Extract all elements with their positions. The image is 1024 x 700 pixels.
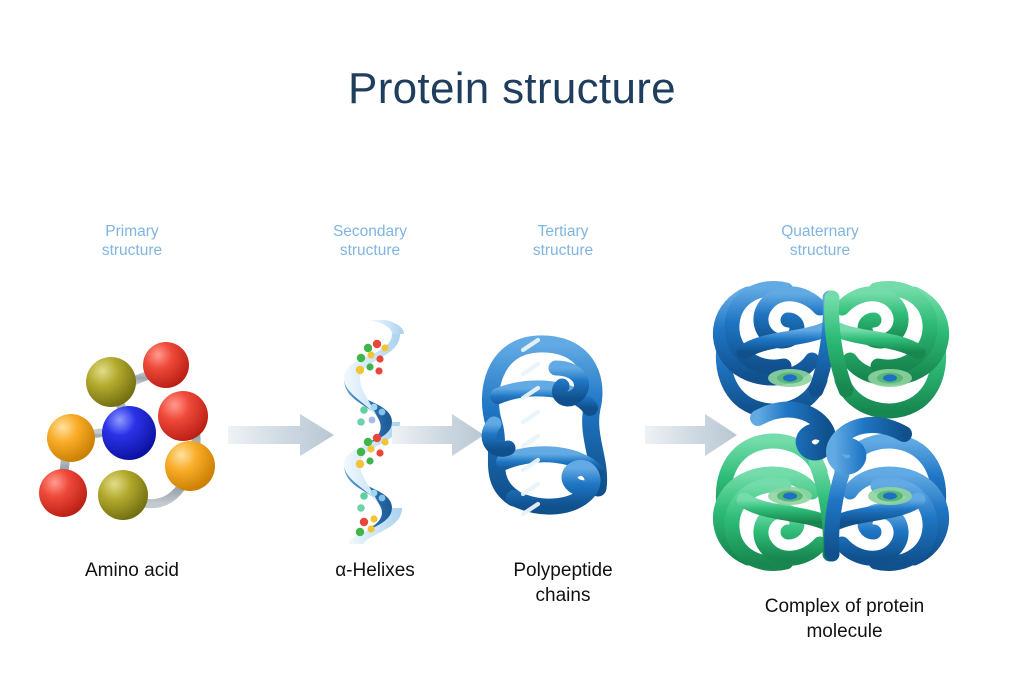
stage-header-tertiary-line1: Tertiary bbox=[468, 222, 658, 241]
amino-acid-atoms bbox=[39, 342, 215, 520]
atom-carbon-olive-bottom bbox=[98, 470, 148, 520]
stage-header-quaternary-line2: structure bbox=[725, 241, 915, 260]
stage-header-tertiary-line2: structure bbox=[468, 241, 658, 260]
figure-polypeptide-chain bbox=[468, 312, 658, 544]
caption-amino-acid: Amino acid bbox=[17, 558, 247, 583]
caption-amino-acid-line1: Amino acid bbox=[17, 558, 247, 583]
atom-nitrogen-blue bbox=[102, 406, 156, 460]
stage-header-secondary-line1: Secondary bbox=[275, 222, 465, 241]
caption-polypeptide-chains: Polypeptide chains bbox=[448, 558, 678, 608]
atom-oxygen-red-top bbox=[143, 342, 189, 388]
stage-header-quaternary: Quaternary structure bbox=[725, 222, 915, 260]
atom-side-orange-left bbox=[47, 414, 95, 462]
arrow-primary-to-secondary bbox=[228, 412, 334, 458]
heme-disc-bottom-left bbox=[768, 487, 812, 505]
caption-protein-complex-line1: Complex of protein bbox=[727, 594, 962, 619]
page-title: Protein structure bbox=[0, 64, 1024, 114]
subunit-blue-top-left bbox=[720, 288, 830, 410]
heme-disc-top-right bbox=[868, 369, 912, 387]
caption-protein-complex-line2: molecule bbox=[727, 619, 962, 644]
stage-header-secondary-line2: structure bbox=[275, 241, 465, 260]
stage-header-primary-line2: structure bbox=[37, 241, 227, 260]
stage-header-primary: Primary structure bbox=[37, 222, 227, 260]
caption-polypeptide-chains-line1: Polypeptide bbox=[448, 558, 678, 583]
figure-amino-acid bbox=[38, 332, 228, 522]
polypeptide-tubes bbox=[489, 344, 599, 507]
heme-disc-top-left bbox=[768, 369, 812, 387]
stage-header-primary-line1: Primary bbox=[37, 222, 227, 241]
atom-carbon-olive-top bbox=[86, 357, 136, 407]
atom-oxygen-red-right bbox=[158, 391, 208, 441]
heme-disc-bottom-right bbox=[868, 487, 912, 505]
diagram-canvas: Protein structure Primary structure Seco… bbox=[0, 0, 1024, 700]
stage-header-secondary: Secondary structure bbox=[275, 222, 465, 260]
atom-oxygen-red-bottom bbox=[39, 469, 87, 517]
subunit-green-top-right bbox=[832, 288, 942, 410]
polypeptide-helix-segment bbox=[523, 332, 538, 524]
stage-header-tertiary: Tertiary structure bbox=[468, 222, 658, 260]
caption-protein-complex: Complex of protein molecule bbox=[727, 594, 962, 644]
stage-header-quaternary-line1: Quaternary bbox=[725, 222, 915, 241]
figure-protein-complex bbox=[700, 268, 962, 584]
atom-side-orange-right bbox=[165, 441, 215, 491]
caption-polypeptide-chains-line2: chains bbox=[448, 583, 678, 608]
